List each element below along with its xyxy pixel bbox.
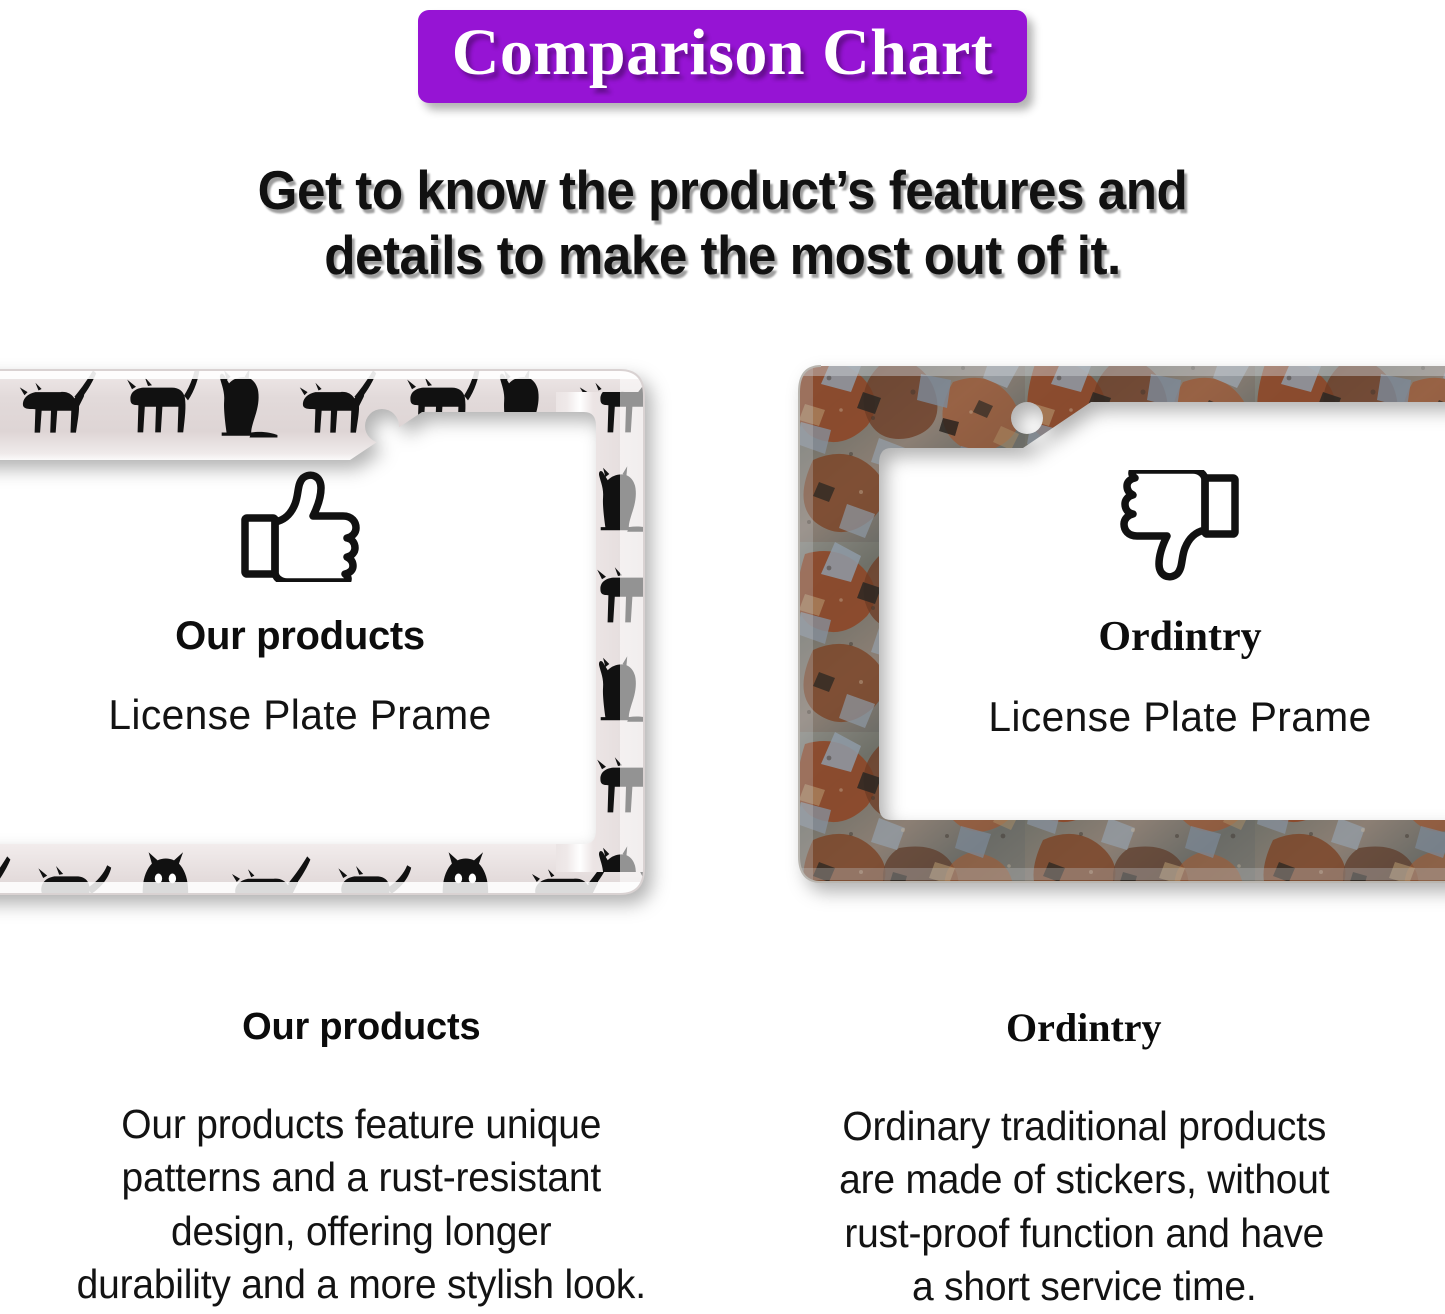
paragraph-line: durability and a more stylish look. (18, 1258, 704, 1311)
card-heading-ours: Our products (0, 616, 600, 656)
bottom-paragraph-ours: Our products feature unique patterns and… (0, 1098, 723, 1311)
paragraph-line: are made of stickers, without (741, 1153, 1427, 1206)
comparison-description-row: Our products Our products feature unique… (0, 990, 1445, 1314)
paragraph-line: design, offering longer (18, 1205, 704, 1258)
our-product-card-content: Our products License Plate Prame (0, 470, 600, 736)
paragraph-line: rust-proof function and have (741, 1207, 1427, 1260)
card-heading-ordinary: Ordintry (880, 616, 1445, 658)
bottom-heading-ours: Our products (0, 1008, 723, 1046)
paragraph-line: a short service time. (741, 1260, 1427, 1313)
paragraph-line: Ordinary traditional products (741, 1100, 1427, 1153)
comparison-chart-page: Comparison Chart Get to know the product… (0, 0, 1445, 1314)
thumbs-up-icon (239, 470, 361, 582)
paragraph-line: Our products feature unique (18, 1098, 704, 1151)
description-column-ordinary: Ordintry Ordinary traditional products a… (723, 990, 1445, 1314)
description-column-ours: Our products Our products feature unique… (0, 990, 723, 1314)
card-subheading-ordinary: License Plate Prame (889, 696, 1445, 738)
paragraph-line: patterns and a rust-resistant (18, 1151, 704, 1204)
thumbs-down-icon (1119, 470, 1241, 582)
card-subheading-ours: License Plate Prame (9, 694, 591, 736)
bottom-paragraph-ordinary: Ordinary traditional products are made o… (723, 1100, 1445, 1313)
ordinary-card-content: Ordintry License Plate Prame (880, 470, 1445, 738)
bottom-heading-ordinary: Ordintry (723, 1008, 1445, 1048)
